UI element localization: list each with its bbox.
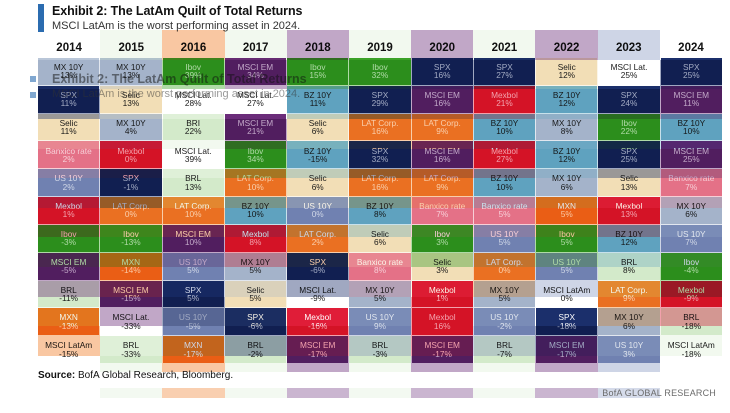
quilt-cell[interactable]: MSCI EM25% (661, 141, 722, 169)
quilt-cell[interactable]: MX 10Y4% (100, 114, 161, 142)
quilt-cell-return: 11% (61, 127, 77, 135)
quilt-cell[interactable]: MSCI LatAm-18% (661, 336, 722, 364)
quilt-cell[interactable]: US 10Y2% (38, 169, 99, 197)
quilt-cell-return: 16% (434, 322, 451, 330)
year-header-2018: 2018 (287, 38, 349, 58)
quilt-cell-return: 3% (623, 350, 635, 358)
quilt-cell[interactable]: SPX25% (661, 58, 722, 86)
quilt-cell-return: -6% (310, 266, 325, 274)
quilt-cell[interactable]: Mexbol16% (412, 308, 473, 336)
quilt-cell-return: 11% (683, 99, 699, 107)
quilt-cell-return: 10% (683, 127, 700, 135)
quilt-cell-return: 9% (436, 127, 448, 135)
quilt-cell[interactable]: LAT Corp.0% (100, 197, 161, 225)
quilt-cell[interactable]: LAT Corp.9% (412, 169, 473, 197)
quilt-cell[interactable]: Banxico rate2% (38, 141, 99, 169)
quilt-cell[interactable]: SPX-6% (225, 308, 286, 336)
quilt-cell-return: 5% (187, 294, 199, 302)
quilt-cell[interactable]: Mexbol1% (38, 197, 99, 225)
quilt-cell[interactable]: SPX16% (412, 58, 473, 86)
quilt-cell-return: 15% (309, 71, 326, 79)
quilt-cell[interactable]: MSCI EM-17% (536, 336, 597, 364)
quilt-cell[interactable]: US 10Y5% (536, 253, 597, 281)
quilt-grid: MX 10Y13%SPX11%Selic11%Banxico rate2%US … (38, 58, 722, 364)
quilt-cell-return: 7% (685, 238, 697, 246)
quilt-cell-return: 6% (561, 183, 573, 191)
quilt-cell[interactable]: BZ 10Y12% (598, 225, 659, 253)
quilt-cell-return: 16% (434, 99, 451, 107)
quilt-cell-return: -5% (186, 322, 201, 330)
quilt-cell-return: -13% (121, 238, 140, 246)
quilt-cell[interactable]: US 10Y5% (163, 253, 224, 281)
quilt-cell[interactable]: SPX5% (163, 281, 224, 309)
quilt-cell-return: 16% (372, 183, 389, 191)
quilt-cell-return: 25% (683, 71, 700, 79)
year-header-2024: 2024 (660, 38, 722, 58)
quilt-cell-return: 3% (436, 266, 448, 274)
quilt-cell-return: 27% (247, 99, 264, 107)
quilt-cell[interactable]: Ibov-13% (100, 225, 161, 253)
quilt-cell[interactable]: Banxico rate7% (412, 197, 473, 225)
quilt-cell-return: -17% (557, 350, 576, 358)
quilt-cell[interactable]: BZ 10Y10% (474, 114, 535, 142)
quilt-cell[interactable]: Ibov3% (412, 225, 473, 253)
quilt-column-2016: Ibov39%MSCI Lat.28%BRI22%MSCI Lat.39%BRL… (163, 58, 225, 364)
year-header-2020: 2020 (411, 38, 473, 58)
quilt-cell[interactable]: MXN-13% (38, 308, 99, 336)
quilt-cell[interactable]: MX 10Y5% (349, 281, 410, 309)
ghost-bullet-icon-2 (30, 92, 36, 98)
ghost-footer-cell (100, 388, 162, 398)
quilt-cell-return: -2% (497, 322, 512, 330)
quilt-column-2019: Ibov32%SPX29%LAT Corp.16%SPX32%LAT Corp.… (349, 58, 411, 364)
quilt-cell[interactable]: LAT Corp.0% (474, 253, 535, 281)
quilt-column-2014: MX 10Y13%SPX11%Selic11%Banxico rate2%US … (38, 58, 100, 364)
quilt-cell[interactable]: US 10Y3% (598, 336, 659, 364)
quilt-cell[interactable]: MSCI Lat.-9% (287, 281, 348, 309)
quilt-cell[interactable]: BRL13% (163, 169, 224, 197)
ghost-title: Exhibit 2: The LatAm Quilt of Total Retu… (52, 72, 307, 86)
quilt-cell-return: -18% (557, 322, 576, 330)
ghost-footer-cell (349, 388, 411, 398)
quilt-cell[interactable]: MX 10Y6% (598, 308, 659, 336)
quilt-cell[interactable]: BRL-2% (225, 336, 286, 364)
quilt-cell-return: 13% (621, 183, 638, 191)
quilt-cell[interactable]: Ibov32% (349, 58, 410, 86)
quilt-cell-return: 2% (63, 183, 75, 191)
ghost-footer-cell (473, 388, 535, 398)
quilt-cell-return: 32% (372, 155, 389, 163)
quilt-cell[interactable]: LAT Corp.9% (412, 114, 473, 142)
quilt-cell[interactable]: BRL-11% (38, 281, 99, 309)
quilt-cell-return: 13% (123, 99, 140, 107)
quilt-cell-return: -11% (59, 294, 78, 302)
quilt-cell-return: -33% (121, 322, 140, 330)
quilt-cell-return: 5% (498, 210, 510, 218)
quilt-cell-return: 5% (561, 266, 573, 274)
quilt-cell[interactable]: MX 10Y5% (225, 253, 286, 281)
quilt-cell-return: 9% (374, 322, 386, 330)
quilt-cell-return: 12% (621, 238, 638, 246)
quilt-cell[interactable]: Mexbol-9% (661, 281, 722, 309)
source-line: Source: BofA Global Research, Bloomberg. (38, 370, 233, 381)
quilt-cell[interactable]: Ibov22% (598, 114, 659, 142)
quilt-cell-return: -16% (308, 322, 327, 330)
quilt-cell[interactable]: MXN-17% (163, 336, 224, 364)
quilt-cell[interactable]: Selic5% (225, 281, 286, 309)
quilt-chart: 2014201520162017201820192020202120222023… (38, 38, 722, 364)
quilt-cell-return: 7% (685, 183, 697, 191)
year-header-2022: 2022 (536, 38, 598, 58)
ghost-footer-cell (225, 388, 287, 398)
ghost-footer-cell (38, 388, 100, 398)
quilt-cell[interactable]: LAT Corp.10% (225, 169, 286, 197)
quilt-cell[interactable]: MSCI EM16% (412, 141, 473, 169)
quilt-cell[interactable]: BRL8% (598, 253, 659, 281)
year-header-2016: 2016 (162, 38, 224, 58)
quilt-cell-return: 8% (374, 266, 386, 274)
quilt-cell[interactable]: SPX29% (349, 86, 410, 114)
quilt-cell[interactable]: BRI22% (163, 114, 224, 142)
accent-bar (38, 4, 44, 32)
quilt-cell[interactable]: LAT Corp.16% (349, 114, 410, 142)
ghost-footer-cell (535, 388, 597, 398)
quilt-cell[interactable]: MX 10Y8% (536, 114, 597, 142)
source-text: BofA Global Research, Bloomberg. (78, 370, 233, 381)
quilt-cell-return: 25% (683, 155, 700, 163)
quilt-cell[interactable]: SPX-1% (100, 169, 161, 197)
quilt-cell[interactable]: Selic3% (412, 253, 473, 281)
ghost-footer-cell (162, 388, 224, 398)
quilt-cell-return: 28% (185, 99, 202, 107)
quilt-column-2023: MSCI Lat.25%SPX24%Ibov22%SPX25%Selic13%M… (598, 58, 660, 364)
quilt-cell-return: 2% (312, 238, 324, 246)
brand-label: BofA GLOBAL RESEARCH (602, 388, 716, 398)
quilt-cell[interactable]: MSCI EM-17% (287, 336, 348, 364)
quilt-column-2020: SPX16%MSCI EM16%LAT Corp.9%MSCI EM16%LAT… (412, 58, 474, 364)
quilt-cell-return: -15% (308, 155, 327, 163)
quilt-cell-return: -18% (682, 322, 701, 330)
quilt-cell-return: 39% (185, 155, 202, 163)
quilt-cell-return: 6% (312, 183, 324, 191)
quilt-cell[interactable]: BRL-33% (100, 336, 161, 364)
quilt-cell-return: 16% (434, 71, 451, 79)
quilt-cell[interactable]: Selic6% (349, 225, 410, 253)
quilt-cell[interactable]: BZ 10Y12% (536, 141, 597, 169)
quilt-cell-return: -9% (684, 294, 699, 302)
quilt-cell-return: 5% (249, 294, 261, 302)
year-header-2015: 2015 (100, 38, 162, 58)
quilt-cell-return: 5% (498, 294, 510, 302)
quilt-cell[interactable]: MSCI EM-15% (100, 281, 161, 309)
quilt-cell[interactable]: MXN-14% (100, 253, 161, 281)
quilt-cell-return: -13% (59, 322, 78, 330)
quilt-cell[interactable]: Selic6% (287, 114, 348, 142)
quilt-cell[interactable]: LAT Corp.16% (349, 169, 410, 197)
quilt-cell[interactable]: Banxico rate7% (661, 169, 722, 197)
quilt-cell-return: 16% (434, 155, 451, 163)
quilt-cell-return: 22% (185, 127, 202, 135)
quilt-cell[interactable]: Mexbol13% (598, 197, 659, 225)
quilt-cell-return: -5% (61, 266, 76, 274)
quilt-cell-return: 6% (374, 238, 386, 246)
year-header-2021: 2021 (473, 38, 535, 58)
quilt-cell[interactable]: BZ 10Y8% (349, 197, 410, 225)
quilt-cell-return: -15% (59, 350, 78, 358)
quilt-cell[interactable]: US 10Y-5% (163, 308, 224, 336)
quilt-cell[interactable]: MSCI EM16% (412, 86, 473, 114)
quilt-cell[interactable]: SPX32% (349, 141, 410, 169)
ghost-subtitle: MSCI LatAm is the worst performing asset… (52, 88, 300, 100)
quilt-cell-return: 7% (436, 210, 448, 218)
quilt-cell-return: -3% (373, 350, 388, 358)
exhibit-header: Exhibit 2: The LatAm Quilt of Total Retu… (0, 0, 730, 36)
quilt-cell-return: 5% (561, 210, 573, 218)
quilt-cell[interactable]: Banxico rate8% (349, 253, 410, 281)
quilt-cell[interactable]: MSCI EM-5% (38, 253, 99, 281)
quilt-cell[interactable]: SPX24% (598, 86, 659, 114)
quilt-cell-return: -2% (248, 350, 263, 358)
quilt-cell[interactable]: Mexbol21% (474, 86, 535, 114)
quilt-column-2018: Ibov15%BZ 10Y11%Selic6%BZ 10Y-15%Selic6%… (287, 58, 349, 364)
quilt-cell[interactable]: SPX-18% (536, 308, 597, 336)
quilt-cell-return: 10% (247, 210, 264, 218)
quilt-cell[interactable]: LAT Corp.2% (287, 225, 348, 253)
quilt-cell-return: -33% (121, 350, 140, 358)
quilt-cell-return: 21% (496, 99, 513, 107)
quilt-cell-return: 22% (621, 127, 638, 135)
quilt-cell-return: 13% (621, 210, 638, 218)
quilt-cell[interactable]: Ibov-3% (38, 225, 99, 253)
quilt-cell-return: 10% (496, 127, 513, 135)
quilt-cell-return: 27% (496, 155, 513, 163)
quilt-cell[interactable]: MXN5% (536, 197, 597, 225)
quilt-cell-return: 0% (125, 210, 137, 218)
quilt-cell-return: 12% (558, 71, 575, 79)
quilt-cell-return: 13% (185, 183, 202, 191)
quilt-cell[interactable]: SPX-6% (287, 253, 348, 281)
quilt-cell[interactable]: Selic12% (536, 58, 597, 86)
quilt-cell[interactable]: Mexbol-16% (287, 308, 348, 336)
quilt-cell-return: 2% (63, 155, 75, 163)
quilt-column-2017: MSCI EM34%MSCI Lat.27%MSCI EM21%Ibov34%L… (225, 58, 287, 364)
quilt-cell[interactable]: BZ 10Y10% (225, 197, 286, 225)
quilt-cell-return: 21% (247, 127, 264, 135)
quilt-cell[interactable]: Mexbol27% (474, 141, 535, 169)
quilt-cell-return: 5% (249, 266, 261, 274)
quilt-cell-return: 5% (187, 266, 199, 274)
quilt-cell-return: 5% (561, 238, 573, 246)
quilt-cell-return: -3% (61, 238, 76, 246)
year-header-2014: 2014 (38, 38, 100, 58)
year-header-2023: 2023 (598, 38, 660, 58)
ghost-footer-cell (411, 388, 473, 398)
quilt-cell-return: 6% (312, 127, 324, 135)
quilt-column-2024: SPX25%MSCI EM11%BZ 10Y10%MSCI EM25%Banxi… (661, 58, 722, 364)
quilt-cell-return: 3% (436, 238, 448, 246)
quilt-cell-return: -15% (121, 294, 140, 302)
year-header-row: 2014201520162017201820192020202120222023… (38, 38, 722, 58)
quilt-cell-return: 25% (621, 155, 638, 163)
quilt-cell-return: 25% (621, 71, 638, 79)
quilt-cell-return: 9% (436, 183, 448, 191)
quilt-cell-return: -14% (121, 266, 140, 274)
quilt-cell-return: -6% (248, 322, 263, 330)
quilt-cell[interactable]: Ibov34% (225, 141, 286, 169)
quilt-cell[interactable]: SPX27% (474, 58, 535, 86)
quilt-cell-return: 12% (558, 99, 575, 107)
quilt-cell-return: 8% (561, 127, 573, 135)
quilt-cell[interactable]: MX 10Y6% (536, 169, 597, 197)
quilt-cell[interactable]: US 10Y7% (661, 225, 722, 253)
quilt-cell-return: 1% (63, 210, 75, 218)
quilt-column-2015: MX 10Y13%Selic13%MX 10Y4%Mexbol0%SPX-1%L… (100, 58, 162, 364)
quilt-cell[interactable]: MSCI LatAm-15% (38, 336, 99, 364)
quilt-cell[interactable]: MSCI EM21% (225, 114, 286, 142)
quilt-cell[interactable]: Selic13% (598, 169, 659, 197)
quilt-cell[interactable]: US 10Y0% (287, 197, 348, 225)
quilt-cell-return: -4% (684, 266, 699, 274)
quilt-cell[interactable]: MSCI LatAm0% (536, 281, 597, 309)
quilt-cell[interactable]: LAT Corp.9% (598, 281, 659, 309)
quilt-cell-return: -9% (310, 294, 325, 302)
quilt-cell-return: 27% (496, 71, 513, 79)
quilt-cell-return: 8% (374, 210, 386, 218)
quilt-cell-return: 9% (623, 294, 635, 302)
quilt-cell[interactable]: Banxico rate5% (474, 197, 535, 225)
quilt-cell-return: -17% (308, 350, 327, 358)
quilt-cell[interactable]: Mexbol1% (412, 281, 473, 309)
quilt-cell[interactable]: MSCI Lat.39% (163, 141, 224, 169)
quilt-cell-return: 0% (125, 155, 137, 163)
quilt-column-2021: SPX27%Mexbol21%BZ 10Y10%Mexbol27%BZ 10Y1… (474, 58, 536, 364)
quilt-cell-return: 24% (621, 99, 638, 107)
quilt-cell[interactable]: SPX25% (598, 141, 659, 169)
year-header-2019: 2019 (349, 38, 411, 58)
quilt-cell[interactable]: Ibov-4% (661, 253, 722, 281)
quilt-cell[interactable]: MSCI EM11% (661, 86, 722, 114)
quilt-cell[interactable]: MX 10Y5% (474, 281, 535, 309)
quilt-cell[interactable]: Mexbol0% (100, 141, 161, 169)
quilt-cell-return: -7% (497, 350, 512, 358)
quilt-cell[interactable]: Selic6% (287, 169, 348, 197)
quilt-cell-return: 5% (374, 294, 386, 302)
quilt-cell-return: -1% (124, 183, 139, 191)
quilt-cell-return: 16% (372, 127, 389, 135)
quilt-cell-return: 32% (372, 71, 389, 79)
ghost-footer-cell (287, 388, 349, 398)
quilt-cell[interactable]: MSCI EM-17% (412, 336, 473, 364)
quilt-cell[interactable]: US 10Y9% (349, 308, 410, 336)
quilt-cell-return: 10% (496, 183, 513, 191)
quilt-cell-return: -17% (433, 350, 452, 358)
quilt-cell[interactable]: BZ 10Y12% (536, 86, 597, 114)
quilt-cell[interactable]: Mexbol8% (225, 225, 286, 253)
quilt-cell[interactable]: MSCI Lat.25% (598, 58, 659, 86)
quilt-cell-return: 0% (561, 294, 573, 302)
quilt-cell-return: 0% (498, 266, 510, 274)
source-label: Source: (38, 370, 75, 381)
quilt-cell-return: 10% (247, 183, 264, 191)
quilt-cell-return: 11% (61, 99, 77, 107)
quilt-cell-return: 6% (623, 322, 635, 330)
quilt-cell-return: 34% (247, 155, 264, 163)
quilt-cell-return: 0% (312, 210, 324, 218)
page-subtitle: MSCI LatAm is the worst performing asset… (52, 20, 300, 32)
quilt-cell-return: 10% (185, 238, 202, 246)
ghost-bullet-icon-1 (30, 76, 36, 82)
quilt-column-2022: Selic12%BZ 10Y12%MX 10Y8%BZ 10Y12%MX 10Y… (536, 58, 598, 364)
quilt-cell-return: 12% (558, 155, 575, 163)
quilt-cell[interactable]: BRL-7% (474, 336, 535, 364)
quilt-cell-return: 11% (310, 99, 326, 107)
quilt-cell[interactable]: MX 10Y6% (661, 197, 722, 225)
quilt-cell-return: 10% (185, 210, 202, 218)
page-title: Exhibit 2: The LatAm Quilt of Total Retu… (52, 4, 302, 18)
year-header-2017: 2017 (225, 38, 287, 58)
quilt-cell-return: 5% (498, 238, 510, 246)
quilt-cell[interactable]: BZ 10Y10% (661, 114, 722, 142)
quilt-cell-return: -17% (183, 350, 202, 358)
quilt-cell-return: 1% (436, 294, 448, 302)
quilt-cell-return: 8% (249, 238, 261, 246)
quilt-cell-return: 6% (685, 210, 697, 218)
quilt-cell[interactable]: LAT Corp.10% (163, 197, 224, 225)
quilt-cell[interactable]: Ibov5% (536, 225, 597, 253)
quilt-cell[interactable]: BRL-18% (661, 308, 722, 336)
quilt-cell-return: 29% (372, 99, 389, 107)
quilt-cell-return: 4% (125, 127, 137, 135)
quilt-cell[interactable]: US 10Y5% (474, 225, 535, 253)
quilt-cell[interactable]: BRL-3% (349, 336, 410, 364)
quilt-cell-return: -18% (682, 350, 701, 358)
quilt-cell[interactable]: MSCI EM10% (163, 225, 224, 253)
quilt-cell[interactable]: Selic11% (38, 114, 99, 142)
quilt-cell[interactable]: BZ 10Y-15% (287, 141, 348, 169)
quilt-cell[interactable]: BZ 10Y10% (474, 169, 535, 197)
quilt-cell[interactable]: MSCI Lat.-33% (100, 308, 161, 336)
quilt-cell-return: 8% (623, 266, 635, 274)
quilt-cell[interactable]: US 10Y-2% (474, 308, 535, 336)
